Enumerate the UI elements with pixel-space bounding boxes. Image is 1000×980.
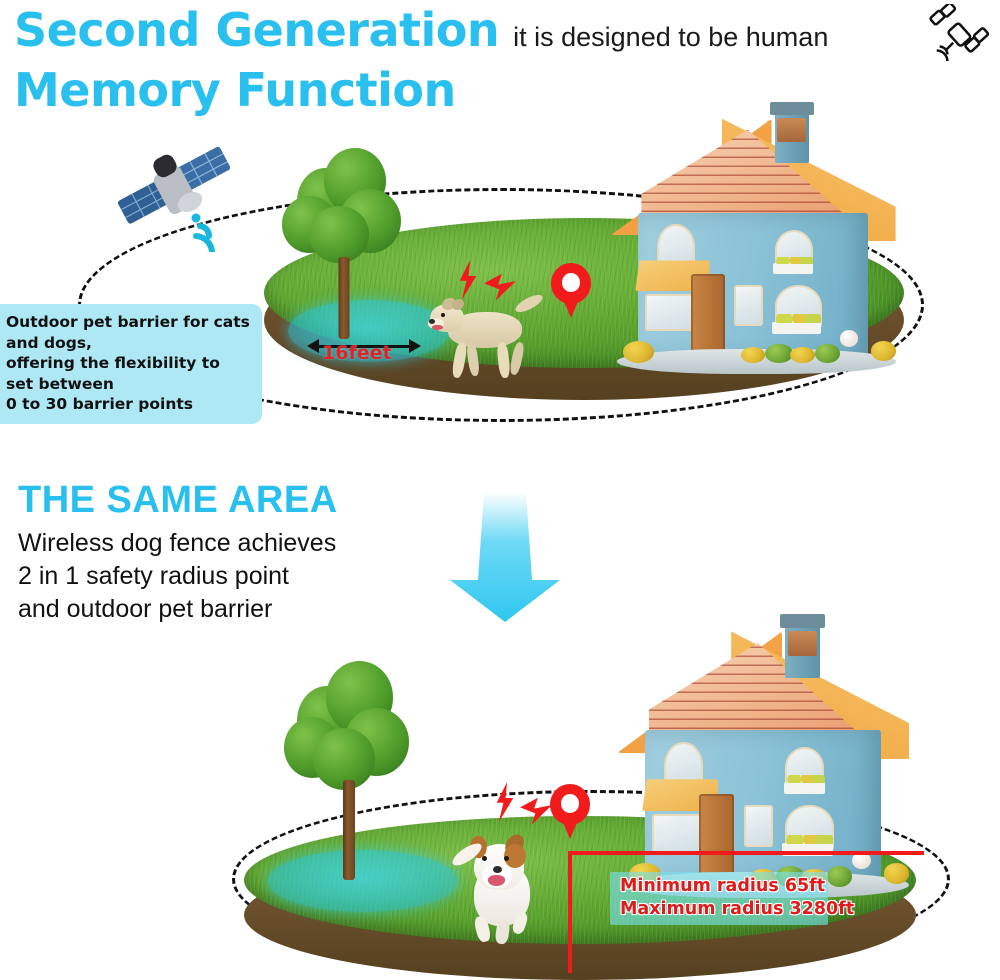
callout-outdoor-barrier: Outdoor pet barrier for cats and dogs, o… — [0, 304, 262, 424]
callout-line-1: Outdoor pet barrier for cats and dogs, — [6, 312, 250, 353]
header-subtitle: it is designed to be human — [513, 20, 828, 54]
tree-icon — [282, 145, 406, 335]
callout-line-2: offering the flexibility to set between — [6, 353, 250, 394]
section-body-line-1: Wireless dog fence achieves — [18, 527, 336, 560]
header-line-1: Second Generation it is designed to be h… — [14, 2, 974, 58]
satellite-signal-icon — [928, 4, 990, 66]
radius-line-horizontal — [568, 851, 924, 855]
infographic-root: Second Generation it is designed to be h… — [0, 0, 1000, 979]
tree-icon — [284, 658, 414, 880]
section-title: THE SAME AREA — [18, 478, 338, 522]
callout-line-3: 0 to 30 barrier points — [6, 394, 250, 415]
max-radius-label: Maximum radius 3280ft — [620, 898, 818, 921]
measure-label: 16feet — [322, 342, 392, 364]
satellite-3d-icon — [108, 140, 238, 252]
dog-running-icon — [452, 828, 570, 944]
section-body-line-2: 2 in 1 safety radius point — [18, 560, 336, 593]
scene-top: 16feet — [0, 100, 1000, 430]
scene-bottom: Minimum radius 65ft Maximum radius 3280f… — [0, 600, 1000, 979]
page-title: Second Generation — [14, 2, 499, 58]
dog-icon — [428, 290, 548, 382]
house-icon — [604, 614, 922, 904]
map-pin-icon — [551, 263, 591, 315]
radius-banner: Minimum radius 65ft Maximum radius 3280f… — [610, 872, 828, 925]
min-radius-label: Minimum radius 65ft — [620, 875, 818, 898]
house-icon — [598, 102, 908, 380]
